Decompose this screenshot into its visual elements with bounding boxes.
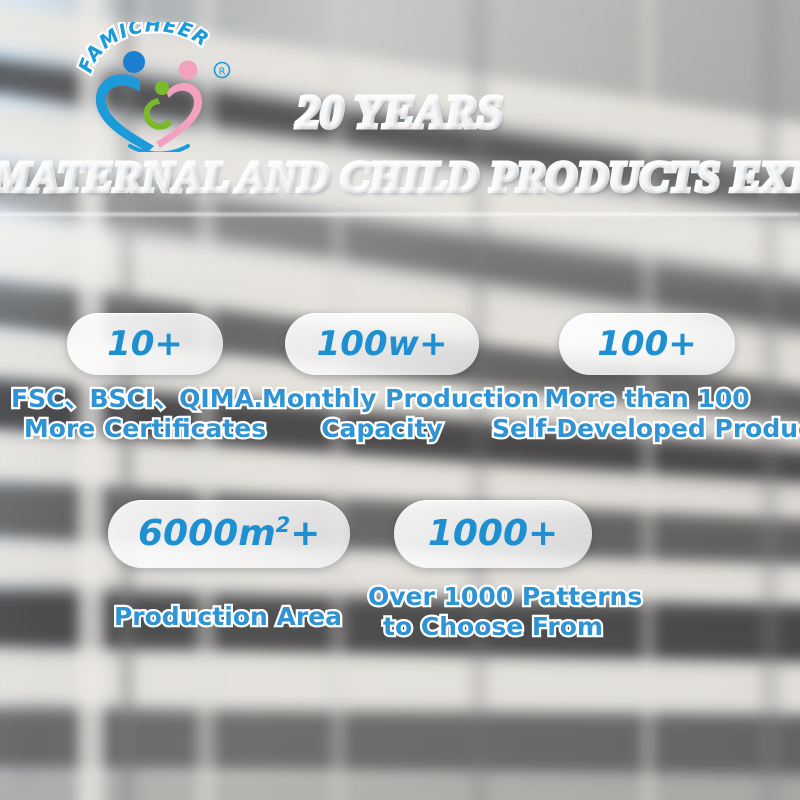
stat-caption-line2: More Certificates — [0, 414, 290, 444]
stat-caption-line2: Self-Developed Products — [492, 414, 800, 444]
stat-value-badge: 10+ — [67, 313, 223, 375]
stat-value-badge: 100+ — [559, 313, 734, 375]
stat-item-production-area: 6000m2+ Production Area — [108, 500, 348, 632]
famicheer-logo[interactable]: FAMICHEER FAMICHEER R — [74, 22, 244, 152]
stat-item-patterns: 1000+ Over 1000 Patterns to Choose From — [368, 500, 618, 642]
stat-value-badge: 6000m2+ — [108, 500, 350, 568]
stat-value-badge: 1000+ — [394, 500, 592, 568]
stat-caption: More than 100 Self-Developed Products — [492, 384, 800, 444]
stat-value-suffix: + — [290, 513, 320, 554]
stat-caption-line1: FSC、BSCI、QIMA… — [0, 384, 290, 414]
stat-caption: Production Area — [108, 602, 348, 632]
svg-text:R: R — [219, 67, 226, 78]
stat-caption: Over 1000 Patterns to Choose From — [368, 582, 618, 642]
stat-caption-line2: to Choose From — [368, 612, 618, 642]
stat-value-badge: 100w+ — [285, 313, 480, 375]
stat-caption-line1: More than 100 — [492, 384, 800, 414]
stat-caption: FSC、BSCI、QIMA… More Certificates — [0, 384, 290, 444]
stat-item-certificates: 10+ FSC、BSCI、QIMA… More Certificates — [0, 313, 290, 444]
stat-caption-line1: Production Area — [108, 602, 348, 632]
header-divider — [0, 212, 800, 217]
stat-value-prefix: 6000m — [138, 513, 276, 554]
stat-item-monthly-capacity: 100w+ Monthly Production Capacity — [262, 313, 502, 444]
promo-banner: FAMICHEER FAMICHEER R 20 YEARS MATERNAL … — [0, 0, 800, 800]
stat-item-self-developed-products: 100+ More than 100 Self-Developed Produc… — [492, 313, 800, 444]
stat-caption: Monthly Production Capacity — [262, 384, 502, 444]
stat-value-superscript: 2 — [276, 513, 291, 537]
stat-caption-line1: Monthly Production — [262, 384, 502, 414]
stat-caption-line1: Over 1000 Patterns — [368, 582, 618, 612]
stat-caption-line2: Capacity — [262, 414, 502, 444]
